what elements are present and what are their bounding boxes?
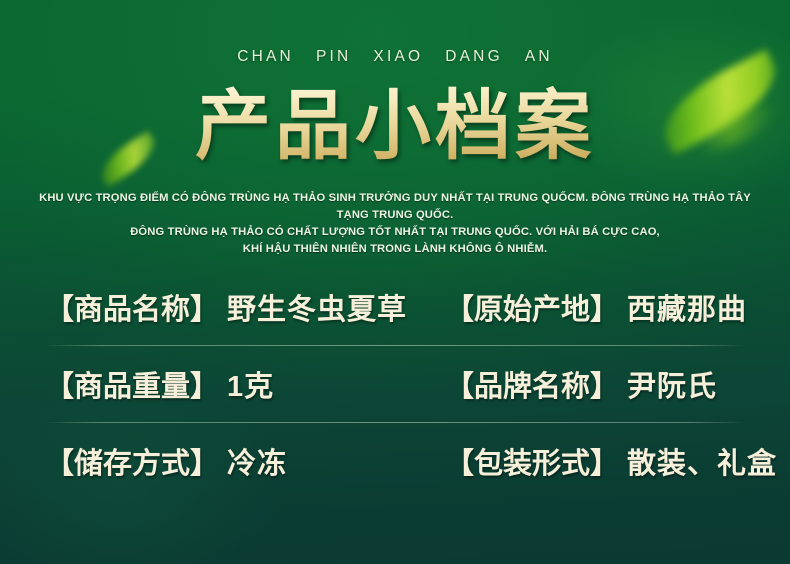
spec-key: 【储存方式】 (45, 440, 219, 482)
description-line-1: KHU VỰC TRỌNG ĐIỂM CÓ ĐÔNG TRÙNG HẠ THẢO… (24, 190, 766, 224)
spec-value: 1克 (227, 363, 274, 405)
spec-cell-origin: 【原始产地】 西藏那曲 (445, 286, 745, 328)
spec-row: 【商品重量】 1克 【品牌名称】 尹阮氏 (45, 345, 745, 422)
page-title: 产品小档案 (0, 86, 790, 168)
spec-key: 【商品重量】 (45, 363, 219, 405)
spec-key: 【包装形式】 (445, 440, 619, 482)
product-profile-poster: CHANPINXIAODANGAN 产品小档案 KHU VỰC TRỌNG ĐI… (0, 0, 790, 564)
description-paragraph: KHU VỰC TRỌNG ĐIỂM CÓ ĐÔNG TRÙNG HẠ THẢO… (24, 190, 766, 258)
pinyin-word-1: CHAN (237, 48, 294, 65)
spec-row: 【商品名称】 野生冬虫夏草 【原始产地】 西藏那曲 (45, 268, 745, 345)
spec-key: 【品牌名称】 (445, 363, 619, 405)
spec-value: 西藏那曲 (627, 286, 747, 328)
spec-value: 野生冬虫夏草 (227, 286, 407, 328)
spec-key: 【商品名称】 (45, 286, 219, 328)
spec-value: 散装、礼盒 (627, 440, 777, 482)
spec-cell-storage: 【储存方式】 冷冻 (45, 440, 445, 482)
spec-cell-product-name: 【商品名称】 野生冬虫夏草 (45, 286, 445, 328)
spec-table: 【商品名称】 野生冬虫夏草 【原始产地】 西藏那曲 【商品重量】 1克 【品牌名… (45, 268, 745, 499)
pinyin-word-4: DANG (445, 48, 503, 65)
description-line-3: KHÍ HẬU THIÊN NHIÊN TRONG LÀNH KHÔNG Ô N… (24, 241, 766, 258)
spec-key: 【原始产地】 (445, 286, 619, 328)
pinyin-word-3: XIAO (373, 48, 423, 65)
description-line-2: ĐÔNG TRÙNG HẠ THẢO CÓ CHẤT LƯỢNG TỐT NHẤ… (24, 224, 766, 241)
spec-cell-brand: 【品牌名称】 尹阮氏 (445, 363, 745, 405)
spec-row: 【储存方式】 冷冻 【包装形式】 散装、礼盒 (45, 422, 745, 499)
spec-cell-weight: 【商品重量】 1克 (45, 363, 445, 405)
spec-cell-packaging: 【包装形式】 散装、礼盒 (445, 440, 745, 482)
pinyin-word-2: PIN (316, 48, 351, 65)
pinyin-title: CHANPINXIAODANGAN (0, 48, 790, 66)
pinyin-word-5: AN (525, 48, 553, 65)
spec-value: 冷冻 (227, 440, 287, 482)
spec-value: 尹阮氏 (627, 363, 717, 405)
